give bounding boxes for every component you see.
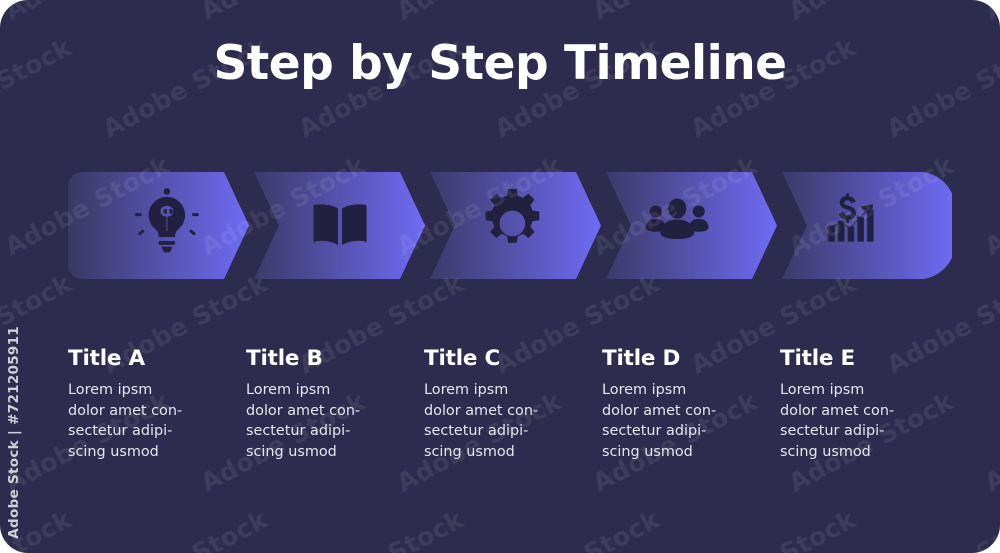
step-title: Title B xyxy=(246,346,422,371)
step-column-2: Title B Lorem ipsm dolor amet con-sectet… xyxy=(246,346,422,486)
step-title: Title E xyxy=(780,346,956,371)
watermark-text: Adobe Stock xyxy=(784,0,958,26)
watermark-text: Adobe Stock xyxy=(0,0,174,26)
step-column-1: Title A Lorem ipsm dolor amet con-sectet… xyxy=(68,346,244,486)
watermark-text: Adobe Stock xyxy=(882,505,1000,553)
step-column-4: Title D Lorem ipsm dolor amet con-sectet… xyxy=(602,346,778,486)
step-body: Lorem ipsm dolor amet con-sectetur adipi… xyxy=(602,380,722,462)
step-column-5: Title E Lorem ipsm dolor amet con-sectet… xyxy=(780,346,956,486)
watermark-text: Adobe Stock xyxy=(294,505,468,553)
chevron-step-3[interactable] xyxy=(430,172,601,279)
watermark-text: Adobe Stock xyxy=(392,0,566,26)
step-body: Lorem ipsm dolor amet con-sectetur adipi… xyxy=(246,380,366,462)
watermark-text: Adobe Stock xyxy=(588,0,762,26)
step-column-3: Title C Lorem ipsm dolor amet con-sectet… xyxy=(424,346,600,486)
timeline-chevron-band xyxy=(68,172,952,279)
step-title: Title C xyxy=(424,346,600,371)
stock-credit-label: Adobe Stock | #721205911 xyxy=(6,326,22,539)
chevron-step-5[interactable] xyxy=(782,172,952,279)
step-text-columns: Title A Lorem ipsm dolor amet con-sectet… xyxy=(68,346,968,486)
watermark-text: Adobe Stock xyxy=(980,0,1000,26)
step-title: Title A xyxy=(68,346,244,371)
chevron-step-2[interactable] xyxy=(254,172,425,279)
step-body: Lorem ipsm dolor amet con-sectetur adipi… xyxy=(424,380,544,462)
infographic-canvas: Step by Step Timeline xyxy=(0,0,1000,553)
chevron-step-1[interactable] xyxy=(68,172,249,279)
watermark-text: Adobe Stock xyxy=(196,0,370,26)
step-title: Title D xyxy=(602,346,778,371)
step-body: Lorem ipsm dolor amet con-sectetur adipi… xyxy=(68,380,188,462)
watermark-text: Adobe Stock xyxy=(98,505,272,553)
watermark-text: Adobe Stock xyxy=(980,387,1000,498)
watermark-text: Adobe Stock xyxy=(980,151,1000,262)
watermark-text: Adobe Stock xyxy=(686,505,860,553)
chevron-step-4[interactable] xyxy=(606,172,777,279)
watermark-text: Adobe Stock xyxy=(490,505,664,553)
page-title: Step by Step Timeline xyxy=(0,36,1000,91)
step-body: Lorem ipsm dolor amet con-sectetur adipi… xyxy=(780,380,900,462)
